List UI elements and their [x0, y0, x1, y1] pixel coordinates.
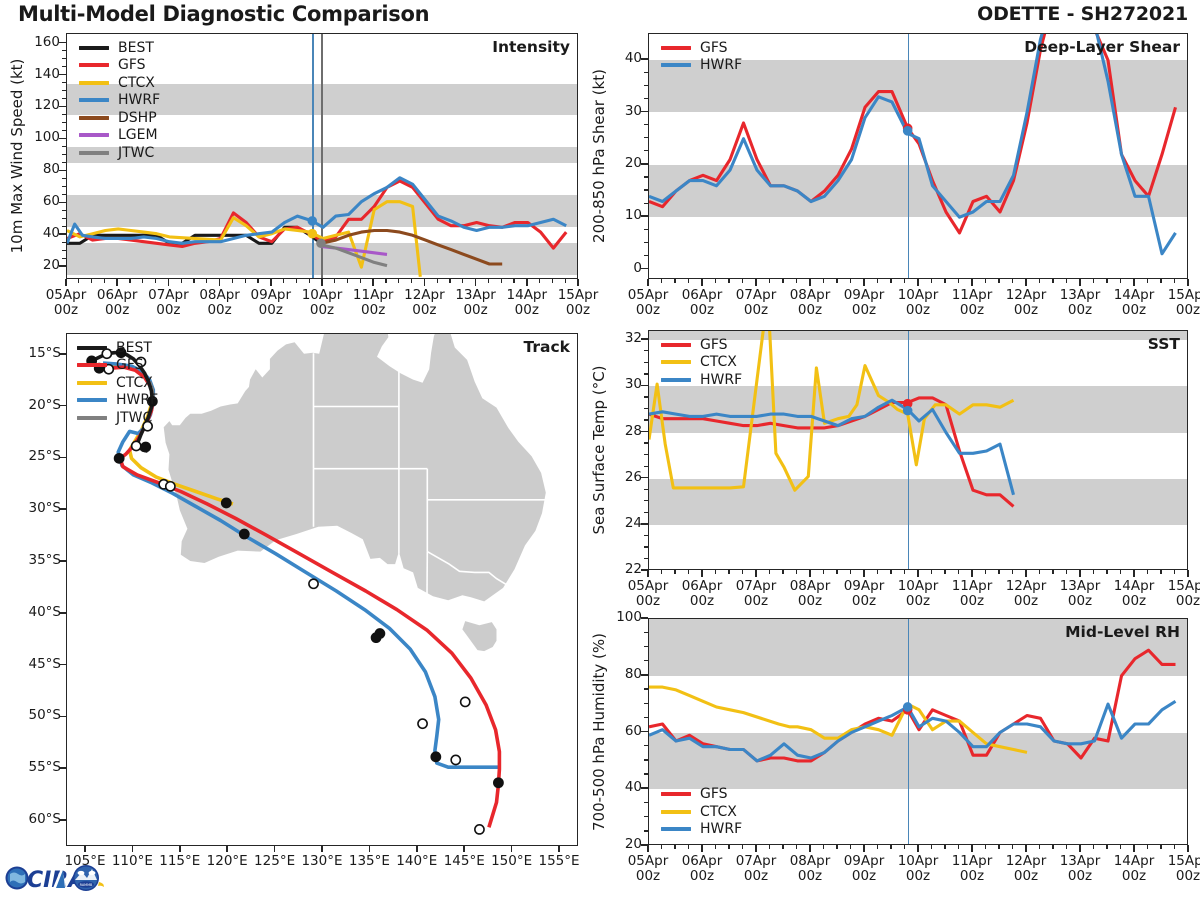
x-minor-tick — [245, 279, 246, 283]
legend-item-gfs: GFS — [77, 357, 158, 375]
legend-swatch-dshp — [79, 116, 109, 120]
x-tick-mark — [647, 279, 649, 286]
y-tick-label: 20 — [596, 836, 642, 852]
legend-swatch-gfs — [661, 343, 691, 347]
y-minor-tick — [644, 150, 648, 151]
x-tick-mark — [701, 845, 703, 852]
x-tick-hour: 00z — [1068, 593, 1092, 609]
lon-tick-mark — [416, 846, 418, 852]
storm-identifier: ODETTE - SH272021 — [977, 3, 1188, 25]
legend-item-hwrf: HWRF — [661, 57, 742, 75]
x-tick-hour: 00z — [1122, 302, 1146, 318]
x-minor-tick — [931, 845, 932, 849]
y-tick-label: 40 — [596, 50, 642, 66]
x-tick-mark — [647, 845, 649, 852]
y-minor-tick — [644, 431, 648, 432]
sst-plot-area: SSTGFSCTCXHWRF — [648, 330, 1188, 570]
legend-swatch-ctcx — [661, 360, 691, 364]
lon-tick-mark — [321, 846, 323, 852]
y-minor-tick — [62, 170, 66, 171]
x-tick-hour: 00z — [744, 868, 768, 884]
x-minor-tick — [129, 279, 130, 283]
legend-label-ctcx: CTCX — [700, 804, 737, 820]
lat-tick-label: 45°S — [4, 656, 61, 672]
lat-tick-label: 30°S — [4, 500, 61, 516]
legend-label-hwrf: HWRF — [700, 821, 742, 837]
y-minor-tick — [644, 419, 648, 420]
x-tick-mark — [270, 279, 272, 286]
x-minor-tick — [334, 279, 335, 283]
x-minor-tick — [257, 279, 258, 283]
x-tick-mark — [475, 279, 477, 286]
x-minor-tick — [823, 570, 824, 574]
x-minor-tick — [1039, 845, 1040, 849]
x-minor-tick — [823, 279, 824, 283]
track-marker-filled — [222, 498, 231, 507]
y-minor-tick — [644, 124, 648, 125]
legend-item-hwrf: HWRF — [79, 92, 160, 110]
legend-swatch-gfs — [77, 363, 107, 367]
y-minor-tick — [62, 74, 66, 75]
x-minor-tick — [742, 570, 743, 574]
legend-swatch-jtwc — [79, 151, 109, 155]
lat-tick-label: 55°S — [4, 759, 61, 775]
x-minor-tick — [78, 279, 79, 283]
x-minor-tick — [661, 279, 662, 283]
y-minor-tick — [644, 745, 648, 746]
x-tick-hour: 00z — [690, 302, 714, 318]
x-tick-mark — [1079, 570, 1081, 577]
x-tick-hour: 00z — [1068, 868, 1092, 884]
legend-swatch-best — [79, 46, 109, 50]
intensity-panel-label: Intensity — [492, 38, 570, 56]
x-minor-tick — [155, 279, 156, 283]
legend-item-ctcx: CTCX — [77, 374, 158, 392]
x-minor-tick — [1174, 570, 1175, 574]
y-tick-label: 160 — [14, 34, 60, 50]
legend-swatch-ctcx — [79, 81, 109, 85]
y-minor-tick — [644, 385, 648, 386]
x-minor-tick — [877, 279, 878, 283]
legend-swatch-lgem — [79, 133, 109, 137]
x-minor-tick — [1160, 279, 1161, 283]
current-time-marker — [903, 703, 912, 712]
legend-item-best: BEST — [77, 339, 158, 357]
x-minor-tick — [513, 279, 514, 283]
x-minor-tick — [1012, 279, 1013, 283]
x-minor-tick — [1160, 570, 1161, 574]
y-minor-tick — [644, 489, 648, 490]
series-line-dshp — [321, 231, 502, 265]
x-tick-hour: 00z — [798, 593, 822, 609]
y-minor-tick — [62, 154, 66, 155]
x-tick-mark — [809, 845, 811, 852]
lat-tick-label: 20°S — [4, 397, 61, 413]
x-minor-tick — [142, 279, 143, 283]
lon-tick-mark — [369, 846, 371, 852]
current-time-marker — [903, 127, 912, 136]
x-tick-hour: 00z — [636, 302, 660, 318]
track-marker-hollow — [309, 579, 318, 588]
y-minor-tick — [62, 186, 66, 187]
legend-item-hwrf: HWRF — [661, 371, 742, 389]
x-minor-tick — [1093, 279, 1094, 283]
x-minor-tick — [360, 279, 361, 283]
track-plot-area: TrackBESTGFSCTCXHWRFJTWC — [66, 333, 578, 846]
x-tick-hour: 00z — [1014, 593, 1038, 609]
rh-y-axis-label: 700-500 hPa Humidity (%) — [590, 632, 608, 830]
track-marker-filled — [494, 778, 503, 787]
x-minor-tick — [688, 279, 689, 283]
rh-panel: Mid-Level RHGFSCTCXHWRF2040608010005Apr0… — [648, 618, 1200, 900]
x-minor-tick — [488, 279, 489, 283]
y-minor-tick — [62, 122, 66, 123]
legend-item-gfs: GFS — [661, 336, 742, 354]
y-minor-tick — [644, 523, 648, 524]
current-time-marker — [903, 406, 912, 415]
x-minor-tick — [688, 845, 689, 849]
x-minor-tick — [769, 845, 770, 849]
x-minor-tick — [347, 279, 348, 283]
x-tick-hour: 00z — [960, 868, 984, 884]
legend-item-jtwc: JTWC — [77, 409, 158, 427]
x-tick-hour: 00z — [960, 593, 984, 609]
x-tick-hour: 00z — [906, 868, 930, 884]
x-tick-mark — [1025, 570, 1027, 577]
legend-label-hwrf: HWRF — [700, 372, 742, 388]
y-minor-tick — [644, 731, 648, 732]
x-minor-tick — [1106, 279, 1107, 283]
x-minor-tick — [539, 279, 540, 283]
lat-tick-label: 25°S — [4, 448, 61, 464]
shear-plot-area: Deep-Layer ShearGFSHWRF — [648, 33, 1188, 279]
y-tick-label: 100 — [596, 609, 642, 625]
track-marker-filled — [115, 454, 124, 463]
y-minor-tick — [62, 130, 66, 131]
x-tick-mark — [971, 279, 973, 286]
x-minor-tick — [1147, 570, 1148, 574]
lon-tick-mark — [179, 846, 181, 852]
x-tick-hour: 00z — [1176, 302, 1200, 318]
legend-item-best: BEST — [79, 39, 160, 57]
x-tick-hour: 00z — [156, 302, 180, 318]
legend-label-gfs: GFS — [700, 786, 728, 802]
legend-swatch-hwrf — [661, 63, 691, 67]
x-tick-mark — [1079, 279, 1081, 286]
x-tick-mark — [577, 279, 579, 286]
x-minor-tick — [728, 845, 729, 849]
y-minor-tick — [62, 210, 66, 211]
x-minor-tick — [836, 279, 837, 283]
x-minor-tick — [1093, 570, 1094, 574]
x-tick-mark — [1187, 279, 1189, 286]
y-minor-tick — [644, 229, 648, 230]
track-marker-filled — [240, 529, 249, 538]
x-minor-tick — [1066, 845, 1067, 849]
x-minor-tick — [1147, 279, 1148, 283]
y-minor-tick — [644, 98, 648, 99]
x-tick-label: 15Apr00z — [1148, 854, 1200, 884]
legend-label-hwrf: HWRF — [700, 57, 742, 73]
x-tick-hour: 00z — [798, 302, 822, 318]
x-tick-date: 15Apr — [1168, 287, 1200, 303]
lat-tick-label: 40°S — [4, 604, 61, 620]
x-minor-tick — [769, 279, 770, 283]
lon-tick-mark — [558, 846, 560, 852]
x-minor-tick — [181, 279, 182, 283]
x-minor-tick — [985, 570, 986, 574]
x-minor-tick — [769, 570, 770, 574]
y-minor-tick — [644, 830, 648, 831]
y-minor-tick — [62, 242, 66, 243]
x-minor-tick — [728, 570, 729, 574]
x-minor-tick — [232, 279, 233, 283]
x-minor-tick — [1174, 845, 1175, 849]
y-tick-label: 32 — [596, 330, 642, 346]
track-marker-filled — [371, 633, 380, 642]
legend-label-gfs: GFS — [118, 57, 146, 73]
shear-legend: GFSHWRF — [661, 39, 742, 74]
x-tick-hour: 00z — [259, 302, 283, 318]
y-minor-tick — [644, 688, 648, 689]
x-minor-tick — [836, 845, 837, 849]
x-tick-hour: 00z — [852, 302, 876, 318]
x-minor-tick — [890, 845, 891, 849]
x-minor-tick — [1039, 279, 1040, 283]
legend-item-hwrf: HWRF — [77, 392, 158, 410]
legend-item-jtwc: JTWC — [79, 144, 160, 162]
x-minor-tick — [796, 570, 797, 574]
x-tick-label: 15Apr00z — [1148, 579, 1200, 609]
x-tick-mark — [219, 279, 221, 286]
x-minor-tick — [742, 279, 743, 283]
y-minor-tick — [644, 242, 648, 243]
x-tick-hour: 00z — [54, 302, 78, 318]
x-minor-tick — [877, 570, 878, 574]
track-marker-hollow — [461, 697, 470, 706]
x-tick-mark — [168, 279, 170, 286]
x-tick-hour: 00z — [852, 868, 876, 884]
y-minor-tick — [644, 373, 648, 374]
x-minor-tick — [296, 279, 297, 283]
x-minor-tick — [1093, 845, 1094, 849]
y-minor-tick — [644, 617, 648, 618]
x-minor-tick — [449, 279, 450, 283]
x-minor-tick — [998, 279, 999, 283]
x-tick-mark — [526, 279, 528, 286]
legend-item-gfs: GFS — [661, 786, 742, 804]
x-tick-hour: 00z — [463, 302, 487, 318]
lat-tick-label: 35°S — [4, 552, 61, 568]
x-minor-tick — [674, 570, 675, 574]
y-minor-tick — [62, 90, 66, 91]
x-tick-mark — [65, 279, 67, 286]
x-minor-tick — [398, 279, 399, 283]
x-tick-mark — [372, 279, 374, 286]
x-tick-mark — [116, 279, 118, 286]
y-minor-tick — [62, 106, 66, 107]
x-tick-mark — [863, 570, 865, 577]
x-minor-tick — [944, 279, 945, 283]
legend-item-hwrf: HWRF — [661, 821, 742, 839]
cira-rammb-logo: CIRA RAMMB — [4, 854, 116, 898]
x-minor-tick — [850, 279, 851, 283]
x-tick-mark — [971, 570, 973, 577]
legend-swatch-gfs — [79, 63, 109, 67]
x-minor-tick — [782, 845, 783, 849]
x-tick-mark — [809, 279, 811, 286]
legend-item-ctcx: CTCX — [79, 74, 160, 92]
legend-item-gfs: GFS — [79, 57, 160, 75]
y-minor-tick — [62, 250, 66, 251]
x-minor-tick — [1052, 570, 1053, 574]
y-minor-tick — [644, 477, 648, 478]
y-minor-tick — [644, 59, 648, 60]
legend-label-gfs: GFS — [116, 357, 144, 373]
legend-swatch-gfs — [661, 792, 691, 796]
x-minor-tick — [1106, 845, 1107, 849]
sst-y-axis-label: Sea Surface Temp (°C) — [590, 365, 608, 534]
y-minor-tick — [644, 788, 648, 789]
track-marker-hollow — [166, 482, 175, 491]
x-minor-tick — [193, 279, 194, 283]
y-minor-tick — [62, 194, 66, 195]
x-tick-hour: 00z — [636, 868, 660, 884]
y-tick-label: 0 — [596, 260, 642, 276]
legend-label-dshp: DSHP — [118, 110, 157, 126]
y-minor-tick — [62, 138, 66, 139]
x-minor-tick — [1174, 279, 1175, 283]
x-tick-hour: 00z — [207, 302, 231, 318]
y-minor-tick — [644, 674, 648, 675]
x-minor-tick — [283, 279, 284, 283]
x-minor-tick — [1039, 570, 1040, 574]
legend-label-hwrf: HWRF — [118, 92, 160, 108]
legend-item-ctcx: CTCX — [661, 803, 742, 821]
rh-plot-area: Mid-Level RHGFSCTCXHWRF — [648, 618, 1188, 845]
x-minor-tick — [958, 279, 959, 283]
x-tick-mark — [701, 279, 703, 286]
lon-tick-mark — [84, 846, 86, 852]
x-minor-tick — [715, 279, 716, 283]
x-minor-tick — [1120, 570, 1121, 574]
x-minor-tick — [437, 279, 438, 283]
x-tick-mark — [1187, 570, 1189, 577]
x-tick-hour: 00z — [744, 302, 768, 318]
x-minor-tick — [104, 279, 105, 283]
legend-item-ctcx: CTCX — [661, 354, 742, 372]
x-minor-tick — [1066, 279, 1067, 283]
x-minor-tick — [501, 279, 502, 283]
x-minor-tick — [552, 279, 553, 283]
x-tick-mark — [917, 279, 919, 286]
x-tick-mark — [1187, 845, 1189, 852]
lat-tick-label: 15°S — [4, 345, 61, 361]
x-minor-tick — [1106, 570, 1107, 574]
x-tick-hour: 00z — [1176, 868, 1200, 884]
legend-label-ctcx: CTCX — [116, 375, 153, 391]
x-tick-hour: 00z — [1122, 593, 1146, 609]
y-minor-tick — [644, 203, 648, 204]
x-tick-mark — [701, 570, 703, 577]
legend-label-ctcx: CTCX — [700, 354, 737, 370]
current-time-marker — [308, 229, 317, 238]
y-minor-tick — [644, 773, 648, 774]
y-minor-tick — [644, 189, 648, 190]
legend-swatch-hwrf — [661, 378, 691, 382]
y-minor-tick — [62, 178, 66, 179]
y-minor-tick — [644, 442, 648, 443]
sst-panel-label: SST — [1148, 335, 1180, 353]
y-minor-tick — [644, 512, 648, 513]
y-minor-tick — [62, 266, 66, 267]
y-minor-tick — [644, 350, 648, 351]
shear-panel: Deep-Layer ShearGFSHWRF01020304005Apr00z… — [648, 33, 1200, 359]
x-minor-tick — [1120, 279, 1121, 283]
y-minor-tick — [644, 396, 648, 397]
y-minor-tick — [62, 218, 66, 219]
x-tick-mark — [647, 570, 649, 577]
y-minor-tick — [644, 216, 648, 217]
y-tick-label: 22 — [596, 561, 642, 577]
y-minor-tick — [644, 255, 648, 256]
x-minor-tick — [931, 570, 932, 574]
x-minor-tick — [850, 570, 851, 574]
x-tick-date: 15Apr — [1168, 853, 1200, 869]
legend-label-best: BEST — [116, 340, 152, 356]
y-minor-tick — [644, 816, 648, 817]
x-tick-hour: 00z — [744, 593, 768, 609]
x-minor-tick — [206, 279, 207, 283]
x-tick-hour: 00z — [636, 593, 660, 609]
lon-tick-mark — [511, 846, 513, 852]
x-minor-tick — [742, 845, 743, 849]
y-minor-tick — [62, 258, 66, 259]
y-minor-tick — [644, 646, 648, 647]
x-minor-tick — [958, 845, 959, 849]
x-minor-tick — [1120, 845, 1121, 849]
legend-swatch-ctcx — [77, 381, 107, 385]
legend-swatch-ctcx — [661, 810, 691, 814]
x-tick-mark — [917, 570, 919, 577]
legend-label-best: BEST — [118, 40, 154, 56]
x-tick-mark — [917, 845, 919, 852]
y-minor-tick — [644, 268, 648, 269]
legend-swatch-hwrf — [77, 398, 107, 402]
x-tick-hour: 00z — [798, 868, 822, 884]
current-time-marker — [317, 239, 326, 248]
legend-item-dshp: DSHP — [79, 109, 160, 127]
x-tick-hour: 00z — [852, 593, 876, 609]
y-minor-tick — [62, 162, 66, 163]
x-tick-hour: 00z — [960, 302, 984, 318]
x-tick-mark — [1133, 570, 1135, 577]
y-minor-tick — [644, 362, 648, 363]
y-minor-tick — [62, 146, 66, 147]
x-tick-mark — [1133, 845, 1135, 852]
y-minor-tick — [62, 58, 66, 59]
y-minor-tick — [644, 466, 648, 467]
x-tick-mark — [755, 570, 757, 577]
x-minor-tick — [661, 845, 662, 849]
track-marker-hollow — [418, 719, 427, 728]
page-title: Multi-Model Diagnostic Comparison — [18, 2, 429, 26]
track-marker-filled — [431, 752, 440, 761]
x-tick-mark — [1133, 279, 1135, 286]
x-minor-tick — [836, 570, 837, 574]
x-minor-tick — [1066, 570, 1067, 574]
shear-panel-label: Deep-Layer Shear — [1024, 38, 1180, 56]
